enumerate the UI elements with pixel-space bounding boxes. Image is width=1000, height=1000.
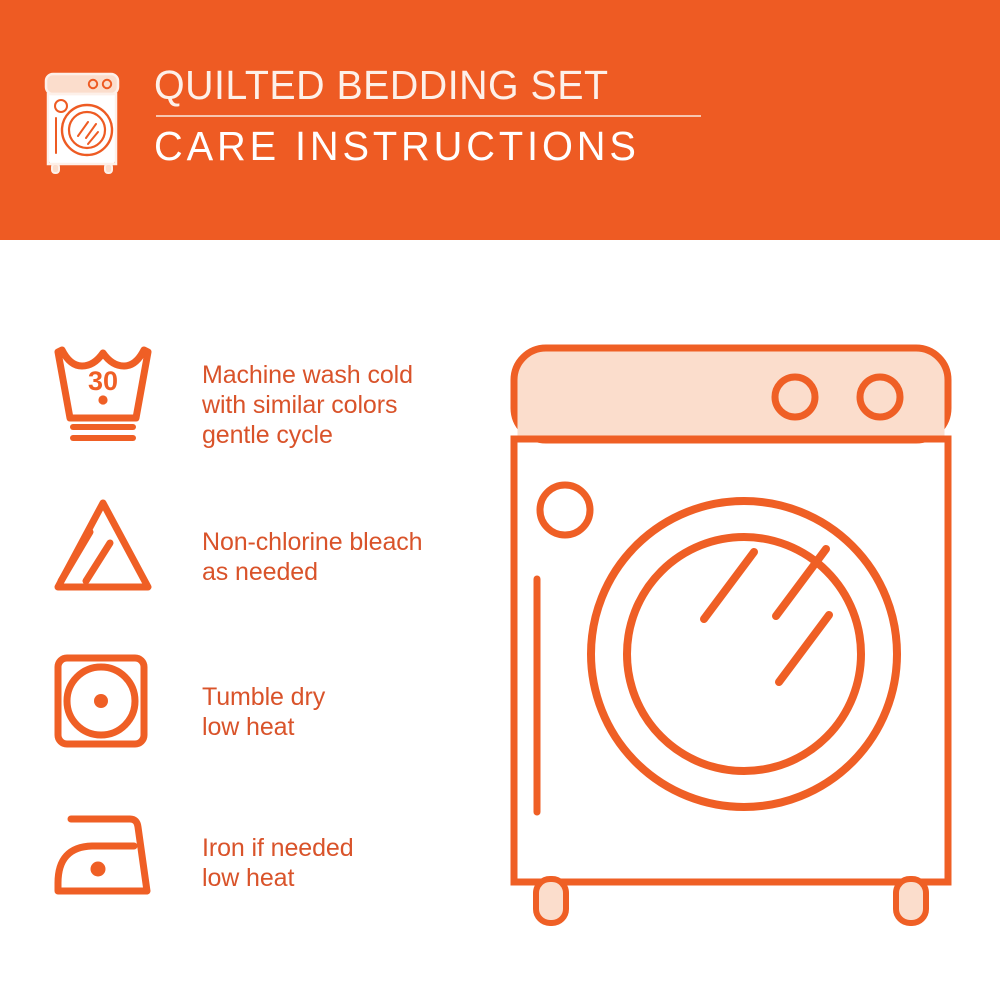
care-row-bleach: Non-chlorine bleach as needed xyxy=(48,495,478,650)
care-label-machine-wash: Machine wash cold with similar colors ge… xyxy=(202,340,413,450)
page-title: QUILTED BEDDING SET xyxy=(154,62,679,108)
care-label-tumble-dry: Tumble dry low heat xyxy=(202,650,325,742)
care-row-iron: Iron if needed low heat xyxy=(48,805,478,960)
iron-low-heat-icon xyxy=(48,805,160,913)
tumble-dry-low-icon xyxy=(48,650,160,758)
care-instruction-list: 30 Machine wash cold with similar colors… xyxy=(48,340,478,960)
title-divider xyxy=(156,115,701,117)
washer-foot-left xyxy=(536,879,566,923)
washing-machine-icon xyxy=(40,68,132,178)
care-row-tumble-dry: Tumble dry low heat xyxy=(48,650,478,805)
care-label-iron: Iron if needed low heat xyxy=(202,805,354,893)
washer-foot-right xyxy=(896,879,926,923)
care-instructions-page: QUILTED BEDDING SET CARE INSTRUCTIONS 30… xyxy=(0,0,1000,1000)
non-chlorine-bleach-triangle-icon xyxy=(48,495,160,603)
header-content: QUILTED BEDDING SET CARE INSTRUCTIONS xyxy=(40,62,701,178)
wash-temperature-value: 30 xyxy=(88,366,118,396)
large-washing-machine-illustration xyxy=(496,334,966,934)
wash-basin-30-icon: 30 xyxy=(48,340,160,448)
page-subtitle: CARE INSTRUCTIONS xyxy=(154,123,685,169)
care-label-bleach: Non-chlorine bleach as needed xyxy=(202,495,422,587)
care-row-machine-wash: 30 Machine wash cold with similar colors… xyxy=(48,340,478,495)
header-banner: QUILTED BEDDING SET CARE INSTRUCTIONS xyxy=(0,0,1000,240)
header-titles: QUILTED BEDDING SET CARE INSTRUCTIONS xyxy=(154,62,701,169)
